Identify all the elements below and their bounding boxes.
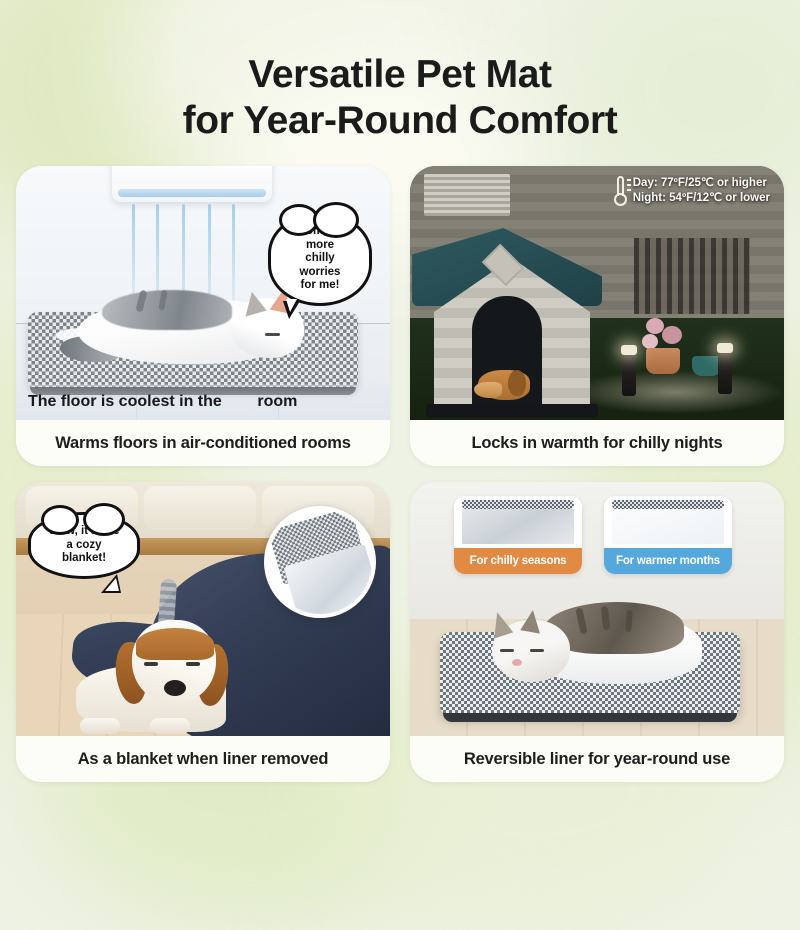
beagle-dog: [76, 582, 266, 732]
temperature-text: Day: 77ºF/25℃ or higher Night: 54ºF/12℃ …: [633, 176, 770, 206]
card-caption: As a blanket when liner removed: [16, 736, 390, 782]
feature-card-air-conditioned-room[interactable]: Mom, no more chilly worries for me! The …: [16, 166, 390, 466]
speech-line-1: Mom, no more: [285, 225, 355, 252]
feature-card-reversible-liner[interactable]: For chilly seasons For warmer months: [410, 482, 784, 782]
speech-bubble-tail: [101, 574, 121, 593]
air-conditioner-unit: [112, 166, 272, 202]
speech-line-2: a cozy blanket!: [45, 539, 123, 566]
fleece-edge: [462, 500, 574, 509]
speech-bubble-dog: Wow, it's like a cozy blanket!: [28, 512, 140, 579]
dog-snout: [474, 382, 502, 398]
photo-cat-on-reversible-mat: For chilly seasons For warmer months: [410, 482, 784, 736]
dog-nose: [164, 680, 186, 696]
hydrangea-flower: [662, 326, 682, 344]
warm-liner-surface: [612, 509, 724, 544]
swatch-group: For chilly seasons For warmer months: [454, 496, 732, 574]
thermometer-tick: [627, 184, 631, 186]
golden-retriever: [478, 346, 550, 400]
card-caption: Warms floors in air-conditioned rooms: [16, 420, 390, 466]
temperature-night: Night: 54ºF/12℃ or lower: [633, 191, 770, 206]
overlay-floor-note-text: The floor is coolest in the room: [16, 393, 297, 411]
dog-paw: [150, 718, 190, 734]
fabric-detail-inset: [264, 506, 376, 618]
garden-fence: [634, 238, 750, 314]
garden-light: [622, 352, 636, 396]
thermometer-tick: [627, 179, 631, 181]
speech-bubble-body: Mom, no more chilly worries for me!: [268, 212, 372, 306]
hydrangea-flower: [642, 334, 658, 349]
dog-brow-marking: [136, 628, 214, 660]
thermometer-tick: [627, 189, 631, 191]
photo-dog-in-doghouse-at-night: Day: 77ºF/25℃ or higher Night: 54ºF/12℃ …: [410, 166, 784, 420]
sleeping-tabby-cat: [482, 588, 706, 684]
speech-bubble-tail: [283, 301, 300, 319]
dog-paw: [80, 718, 120, 734]
page-title: Versatile Pet Mat for Year-Round Comfort: [0, 52, 800, 143]
cat-eye-left: [500, 649, 514, 652]
speech-bubble-cat: Mom, no more chilly worries for me!: [268, 212, 372, 306]
swatch-label-chilly: For chilly seasons: [454, 548, 582, 574]
dog-eye-left: [144, 662, 158, 666]
speech-line-2: chilly worries: [285, 252, 355, 279]
thermometer-icon: [614, 176, 627, 206]
dog-ear: [508, 370, 526, 396]
swatch-label-warm: For warmer months: [604, 548, 732, 574]
speech-line-1: Wow, it's like: [45, 525, 123, 539]
swatch-warmer-months[interactable]: For warmer months: [604, 496, 732, 574]
chilly-liner-surface: [462, 509, 574, 544]
headline-line-2: for Year-Round Comfort: [0, 98, 800, 144]
ac-vent: [118, 189, 266, 197]
feature-card-chilly-nights[interactable]: Day: 77ºF/25℃ or higher Night: 54ºF/12℃ …: [410, 166, 784, 466]
window-shutter: [424, 174, 510, 216]
swatch-chilly-seasons[interactable]: For chilly seasons: [454, 496, 582, 574]
cat-nose: [512, 659, 522, 666]
feature-grid: Mom, no more chilly worries for me! The …: [16, 166, 784, 782]
cat-eye-right: [530, 649, 544, 652]
garden-light: [718, 350, 732, 394]
fleece-edge: [612, 500, 724, 509]
feature-card-blanket-liner-removed[interactable]: Wow, it's like a cozy blanket! As a blan…: [16, 482, 390, 782]
swatch-image-warm: [604, 496, 732, 548]
dog-eye-right: [186, 662, 200, 666]
cat-ear-right: [520, 608, 544, 633]
dog-house-base: [426, 404, 598, 418]
card-caption: Reversible liner for year-round use: [410, 736, 784, 782]
photo-cat-on-mat-under-ac: Mom, no more chilly worries for me! The …: [16, 166, 390, 420]
cat-eye: [265, 333, 280, 336]
speech-bubble-body: Wow, it's like a cozy blanket!: [28, 512, 140, 579]
headline-line-1: Versatile Pet Mat: [248, 53, 551, 96]
garden-path: [567, 370, 784, 414]
thermometer-bulb: [614, 193, 627, 206]
swatch-image-chilly: [454, 496, 582, 548]
card-caption: Locks in warmth for chilly nights: [410, 420, 784, 466]
hydrangea-flower: [646, 318, 664, 334]
temperature-overlay: Day: 77ºF/25℃ or higher Night: 54ºF/12℃ …: [610, 172, 778, 210]
temperature-day: Day: 77ºF/25℃ or higher: [633, 176, 770, 191]
dog-house: [416, 218, 596, 408]
overlay-floor-note: The floor is coolest in the room: [16, 384, 390, 420]
flower-pot: [646, 348, 680, 374]
cat-back-fur: [102, 290, 232, 330]
speech-line-3: for me!: [285, 279, 355, 293]
sofa-cushion: [144, 486, 256, 530]
photo-beagle-under-blanket: Wow, it's like a cozy blanket!: [16, 482, 390, 736]
